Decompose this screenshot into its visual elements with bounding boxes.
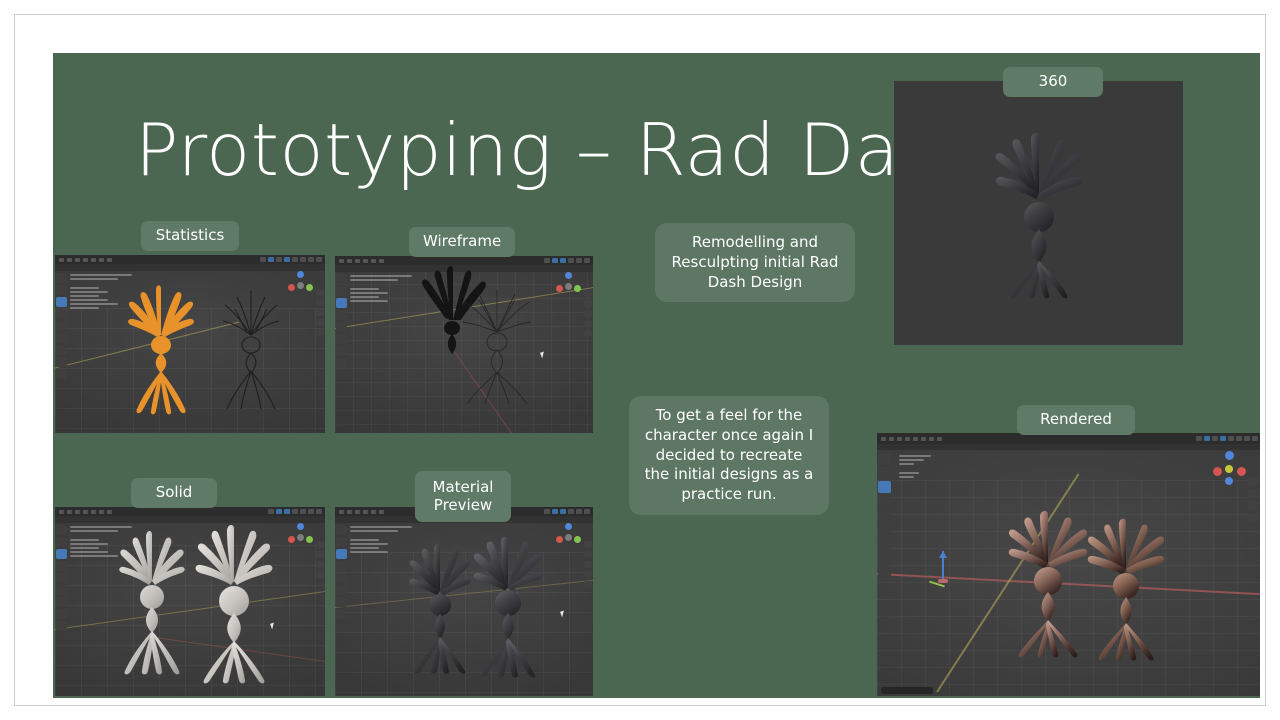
turnaround-panel[interactable] bbox=[894, 81, 1183, 345]
viewport-toolbar[interactable] bbox=[336, 525, 347, 619]
viewport-side-icons[interactable] bbox=[316, 541, 324, 578]
slide-background: Prototyping – Rad Dash bbox=[53, 53, 1260, 698]
creature-model-wireframe bbox=[215, 281, 287, 413]
material-preview-viewport[interactable] bbox=[335, 507, 593, 696]
creature-model-material-left bbox=[407, 543, 473, 673]
creature-model-material-right bbox=[471, 537, 545, 677]
viewport-side-icons[interactable] bbox=[316, 289, 324, 336]
viewport-side-icons[interactable] bbox=[584, 290, 592, 337]
label-360[interactable]: 360 bbox=[1003, 67, 1103, 97]
label-solid[interactable]: Solid bbox=[131, 478, 217, 508]
creature-model-turnaround bbox=[989, 131, 1089, 299]
solid-viewport[interactable] bbox=[55, 507, 325, 696]
wireframe-viewport[interactable] bbox=[335, 256, 593, 433]
viewport-subheader bbox=[55, 264, 325, 271]
navigation-gizmo[interactable] bbox=[555, 523, 583, 551]
header-shading-icons[interactable] bbox=[260, 257, 322, 262]
header-menu-icons bbox=[59, 510, 112, 514]
header-menu-icons bbox=[59, 258, 112, 262]
header-shading-icons[interactable] bbox=[544, 509, 590, 514]
slide-frame: Prototyping – Rad Dash bbox=[14, 14, 1266, 706]
header-shading-icons[interactable] bbox=[1196, 436, 1258, 441]
statistics-viewport[interactable] bbox=[55, 255, 325, 433]
statistics-overlay-text bbox=[350, 526, 412, 555]
light-object-gizmo bbox=[935, 551, 951, 587]
navigation-gizmo[interactable] bbox=[287, 271, 315, 299]
viewport-subheader bbox=[55, 516, 325, 523]
navigation-gizmo[interactable] bbox=[1213, 451, 1247, 485]
callout-remodelling: Remodelling and Resculpting initial Rad … bbox=[655, 223, 855, 302]
viewport-side-icons[interactable] bbox=[584, 541, 592, 588]
header-menu-icons bbox=[881, 437, 942, 441]
page-title: Prototyping – Rad Dash bbox=[135, 114, 984, 186]
label-rendered[interactable]: Rendered bbox=[1017, 405, 1135, 435]
viewport-toolbar[interactable] bbox=[56, 273, 67, 379]
header-menu-icons bbox=[339, 259, 384, 263]
viewport-grid bbox=[55, 545, 325, 696]
rendered-viewport[interactable] bbox=[877, 433, 1260, 696]
header-shading-icons[interactable] bbox=[544, 258, 590, 263]
statistics-overlay-text bbox=[350, 275, 412, 304]
viewport-header bbox=[55, 255, 325, 264]
navigation-gizmo[interactable] bbox=[555, 272, 583, 300]
creature-model-solid-right bbox=[193, 525, 275, 683]
label-material-preview-line1: Material bbox=[425, 479, 501, 497]
viewport-side-icons[interactable] bbox=[1248, 477, 1258, 522]
header-menu-icons bbox=[339, 510, 384, 514]
viewport-toolbar[interactable] bbox=[336, 274, 347, 368]
creature-model-orange bbox=[123, 277, 199, 415]
viewport-toolbar[interactable] bbox=[56, 525, 67, 631]
navigation-gizmo[interactable] bbox=[287, 523, 315, 551]
label-wireframe[interactable]: Wireframe bbox=[409, 227, 515, 257]
label-material-preview[interactable]: Material Preview bbox=[415, 471, 511, 522]
viewport-header bbox=[55, 507, 325, 516]
statistics-overlay-text bbox=[899, 455, 931, 480]
header-shading-icons[interactable] bbox=[268, 509, 322, 514]
slide-canvas: Prototyping – Rad Dash bbox=[0, 0, 1280, 720]
creature-model-solid-left bbox=[117, 529, 187, 674]
creature-model-rendered-left bbox=[1005, 511, 1091, 657]
viewport-toolbar[interactable] bbox=[878, 453, 891, 577]
viewport-subheader bbox=[877, 444, 1260, 450]
viewport-status-bar bbox=[881, 687, 933, 694]
label-material-preview-line2: Preview bbox=[425, 497, 501, 515]
creature-model-rendered-right bbox=[1085, 519, 1167, 659]
label-statistics[interactable]: Statistics bbox=[141, 221, 239, 251]
creature-model-wireframe bbox=[453, 286, 541, 406]
callout-practice-run: To get a feel for the character once aga… bbox=[629, 396, 829, 515]
